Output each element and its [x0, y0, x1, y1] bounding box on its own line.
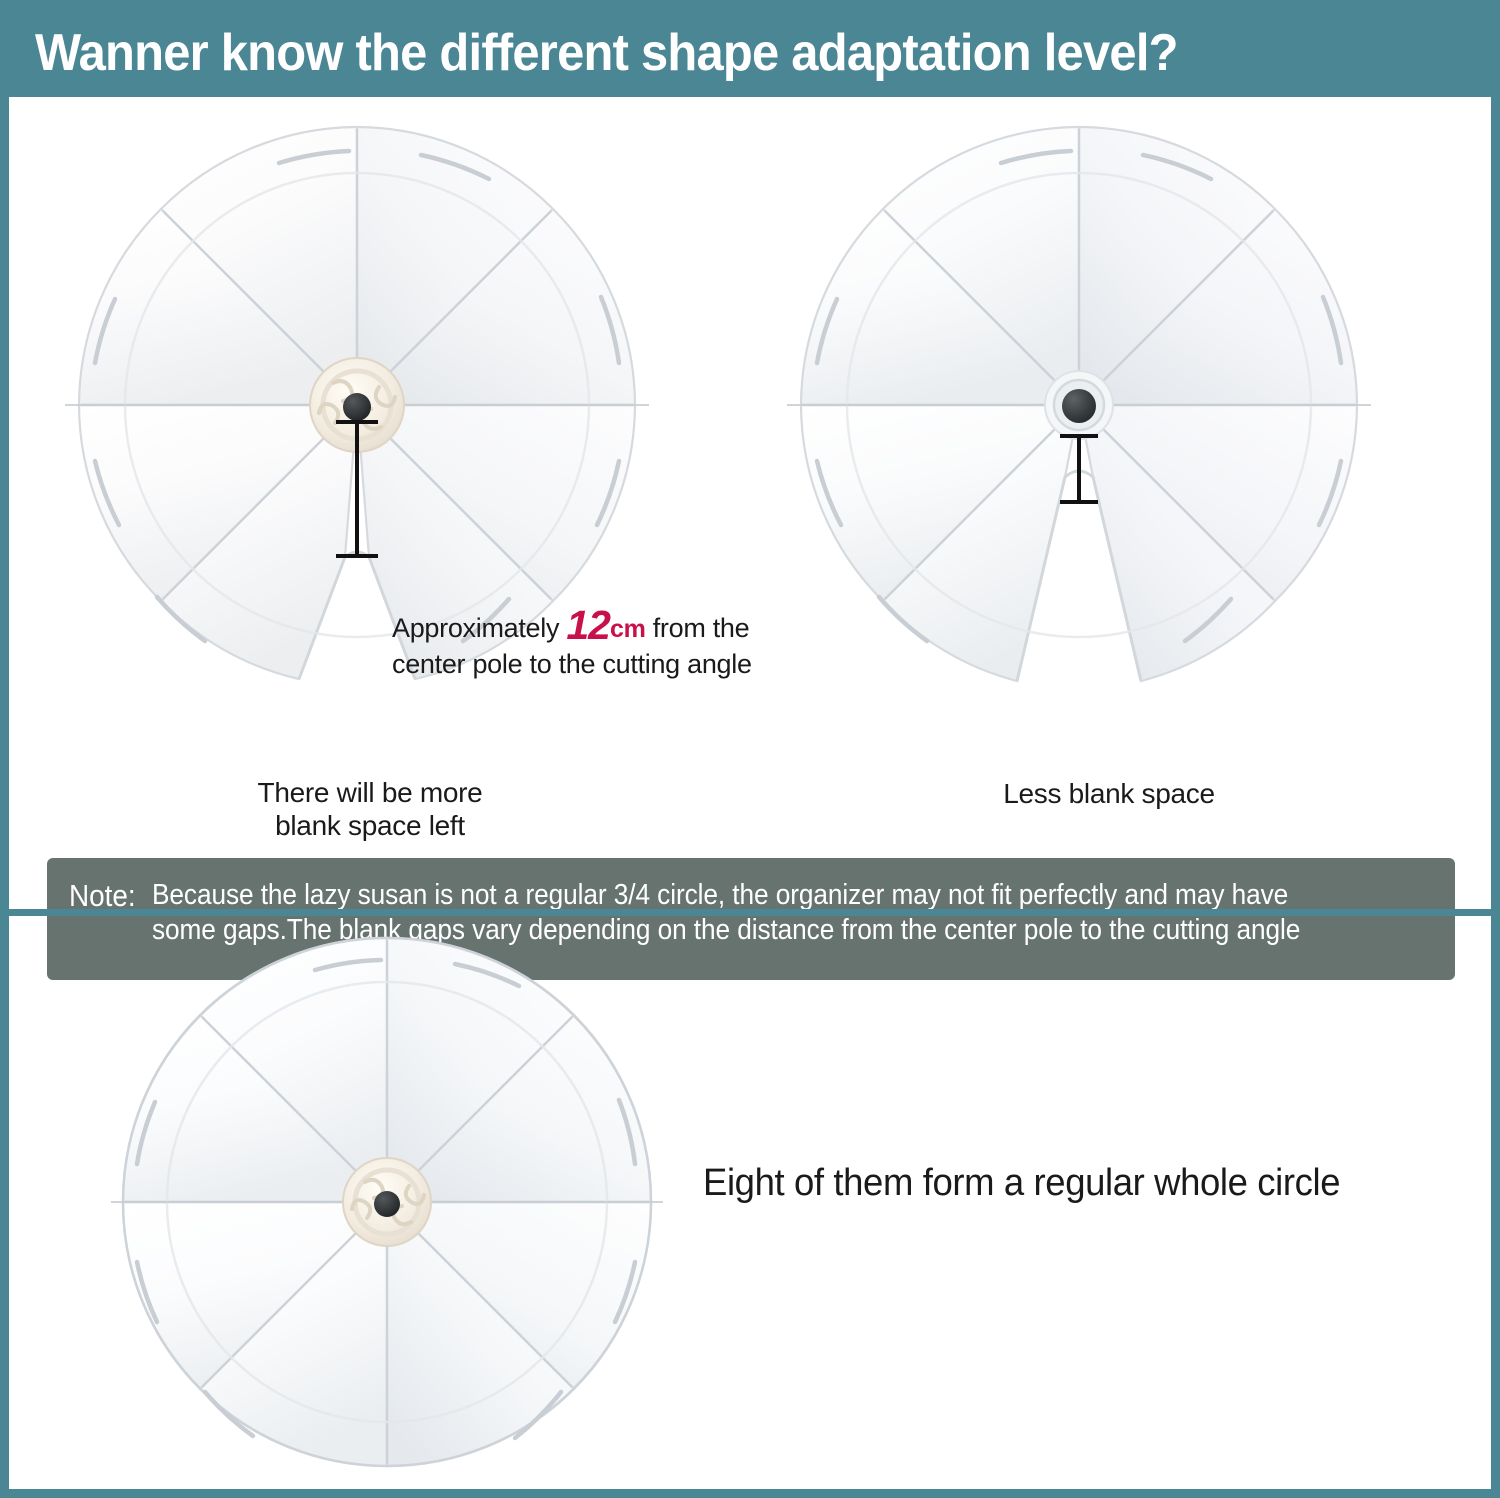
header-band: Wanner know the different shape adaptati… — [9, 9, 1491, 97]
callout-unit: cm — [610, 615, 646, 643]
gap-caption-6cm: Less blank space — [994, 777, 1224, 810]
lazy-susan-full-circle-illustration — [87, 922, 687, 1482]
center-hub-dark — [1045, 371, 1113, 439]
full-circle-caption: Eight of them form a regular whole circl… — [703, 1162, 1340, 1205]
full-circle-section: Eight of them form a regular whole circl… — [9, 916, 1491, 1489]
product-panel-12cm: Approximately 12cm from the center pole … — [27, 105, 687, 705]
center-hub-cream — [343, 1158, 431, 1246]
product-panel-full-circle — [87, 922, 687, 1482]
measurement-callout-12cm: Approximately 12cm from the center pole … — [392, 602, 752, 680]
page-title: Wanner know the different shape adaptati… — [35, 23, 1178, 83]
lazy-susan-6cm-illustration — [749, 105, 1439, 705]
callout-suffix: from the — [653, 613, 750, 643]
section-divider — [9, 909, 1491, 916]
callout-line2: center pole to the cutting angle — [392, 649, 752, 679]
infographic-root: Wanner know the different shape adaptati… — [0, 0, 1500, 1498]
gap-caption-12cm: There will be more blank space left — [245, 776, 495, 842]
product-panel-6cm: Approximately 6cm from the center pole t… — [749, 105, 1439, 705]
callout-value: 12 — [566, 602, 610, 648]
callout-prefix: Approximately — [392, 613, 559, 643]
comparison-section: Approximately 12cm from the center pole … — [9, 97, 1491, 909]
